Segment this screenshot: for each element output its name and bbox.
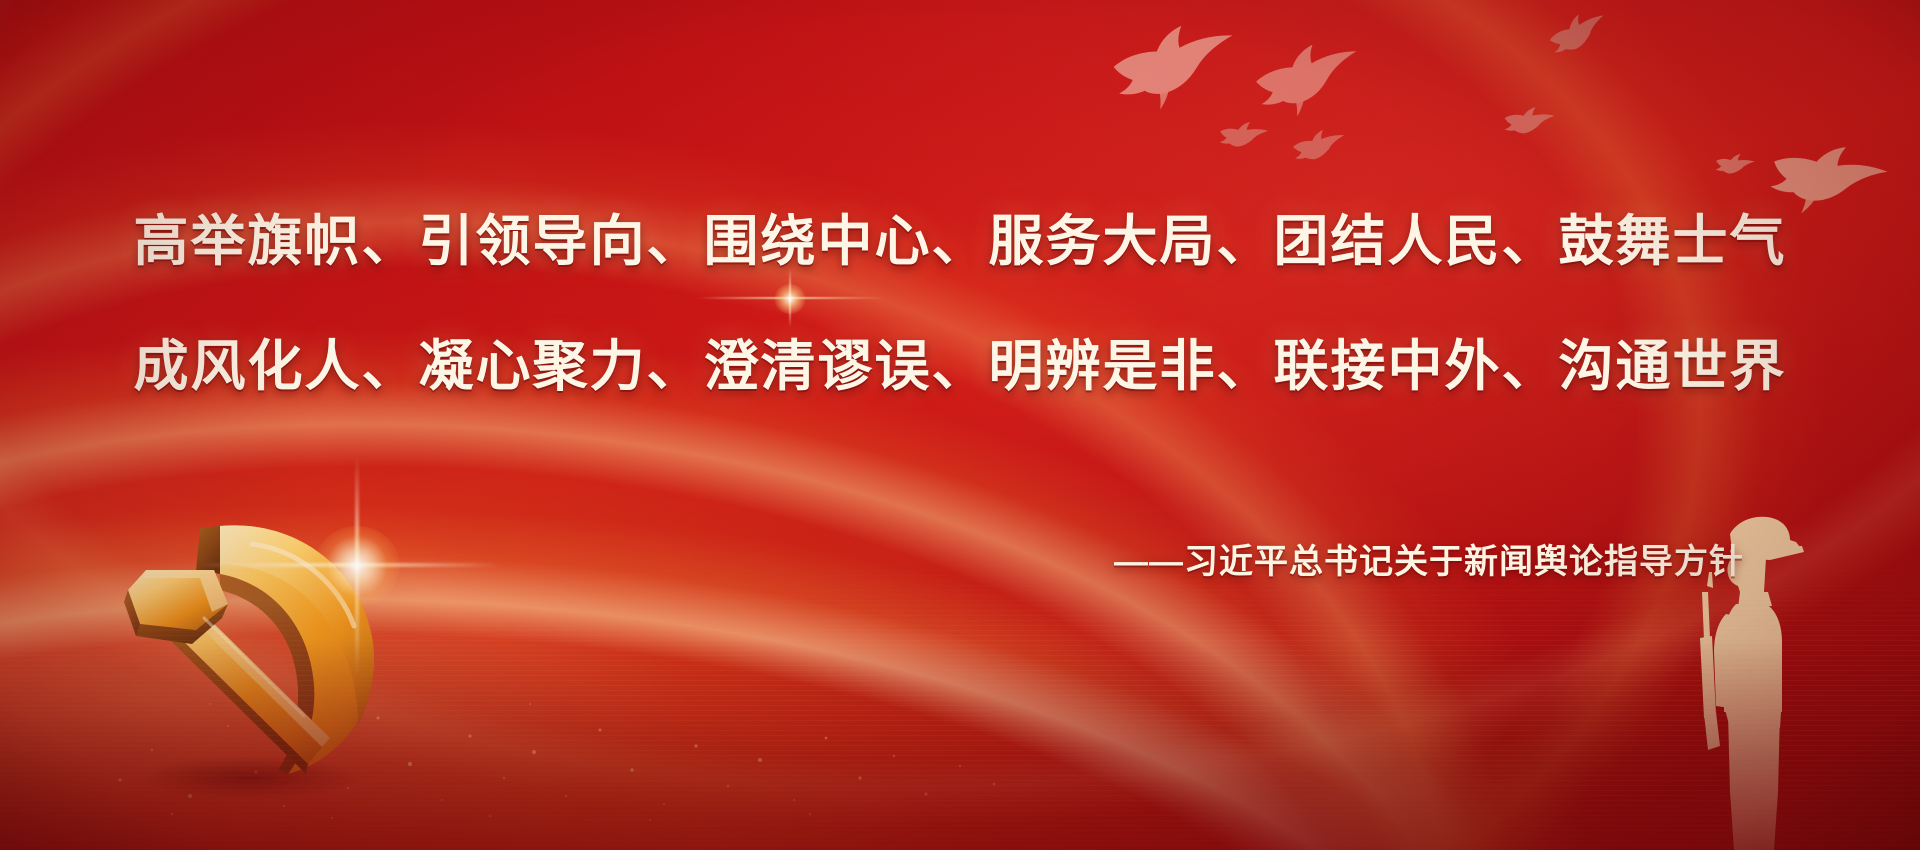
headline-line-2: 成风化人、凝心聚力、澄清谬误、明辨是非、联接中外、沟通世界 <box>0 339 1920 394</box>
propaganda-banner: 高举旗帜、引领导向、围绕中心、服务大局、团结人民、鼓舞士气 成风化人、凝心聚力、… <box>0 0 1920 850</box>
attribution-text: ——习近平总书记关于新闻舆论指导方针 <box>1114 534 1744 583</box>
headline-block: 高举旗帜、引领导向、围绕中心、服务大局、团结人民、鼓舞士气 成风化人、凝心聚力、… <box>0 214 1920 394</box>
cpc-hammer-sickle-emblem <box>100 478 400 808</box>
headline-line-1: 高举旗帜、引领导向、围绕中心、服务大局、团结人民、鼓舞士气 <box>0 214 1920 269</box>
